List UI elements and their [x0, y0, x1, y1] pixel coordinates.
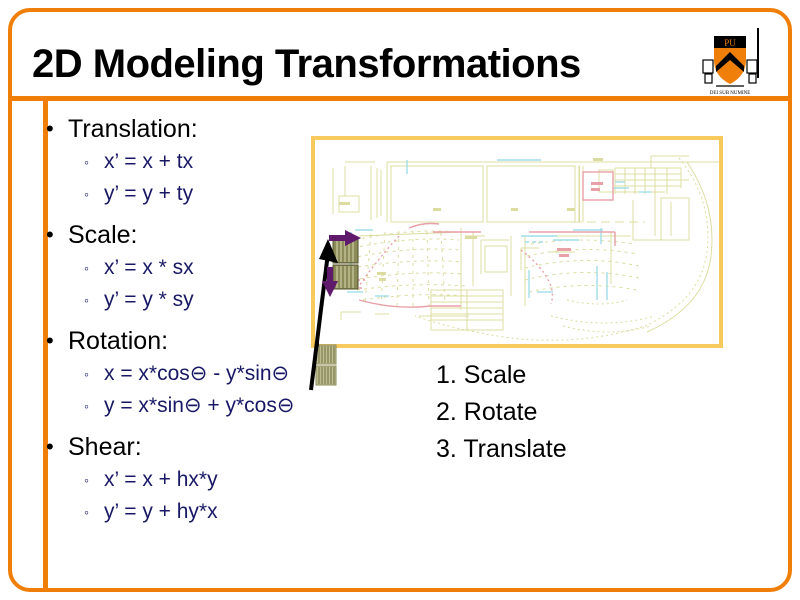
hollow-circle-icon: ◦: [84, 390, 104, 422]
hollow-circle-icon: ◦: [84, 284, 104, 316]
bullet-label: Rotation:: [68, 324, 168, 358]
subbullet-shear-x: ◦ x’ = x + hx*y: [84, 464, 346, 496]
bullet-group-translation: • Translation: ◦ x’ = x + tx ◦ y’ = y + …: [46, 112, 346, 210]
step-item-3: 3. Translate: [436, 431, 567, 468]
subbullet-text: x = x*cos⊖ - y*sin⊖: [104, 358, 289, 390]
bullet-dot-icon: •: [46, 218, 68, 252]
subbullet-translation-x: ◦ x’ = x + tx: [84, 146, 346, 178]
bullet-list: • Translation: ◦ x’ = x + tx ◦ y’ = y + …: [46, 112, 346, 536]
bullet-translation: • Translation:: [46, 112, 346, 146]
hollow-circle-icon: ◦: [84, 358, 104, 390]
bullet-rotation: • Rotation:: [46, 324, 346, 358]
hollow-circle-icon: ◦: [84, 464, 104, 496]
hollow-circle-icon: ◦: [84, 178, 104, 210]
subbullet-text: x’ = x + hx*y: [104, 464, 218, 496]
subbullet-text: x’ = x * sx: [104, 252, 194, 284]
subbullet-scale-x: ◦ x’ = x * sx: [84, 252, 346, 284]
bullet-group-scale: • Scale: ◦ x’ = x * sx ◦ y’ = y * sy: [46, 218, 346, 316]
bullet-shear: • Shear:: [46, 430, 346, 464]
bullet-label: Translation:: [68, 112, 198, 146]
subbullet-text: y = x*sin⊖ + y*cos⊖: [104, 390, 294, 422]
hollow-circle-icon: ◦: [84, 496, 104, 528]
bullet-group-rotation: • Rotation: ◦ x = x*cos⊖ - y*sin⊖ ◦ y = …: [46, 324, 346, 422]
hollow-circle-icon: ◦: [84, 146, 104, 178]
step-item-1: 1. Scale: [436, 357, 567, 394]
transformation-order-list: 1. Scale 2. Rotate 3. Translate: [436, 357, 567, 468]
bullet-dot-icon: •: [46, 112, 68, 146]
hollow-circle-icon: ◦: [84, 252, 104, 284]
step-item-2: 2. Rotate: [436, 394, 567, 431]
bullet-label: Shear:: [68, 430, 142, 464]
subbullet-text: y’ = y * sy: [104, 284, 194, 316]
title-divider: [12, 96, 788, 101]
subbullet-text: y’ = y + ty: [104, 178, 193, 210]
bullet-dot-icon: •: [46, 430, 68, 464]
bullet-label: Scale:: [68, 218, 137, 252]
page-title: 2D Modeling Transformations: [32, 36, 652, 92]
bullet-dot-icon: •: [46, 324, 68, 358]
subbullet-rotation-y: ◦ y = x*sin⊖ + y*cos⊖: [84, 390, 346, 422]
svg-text:PU: PU: [724, 38, 736, 48]
princeton-shield-icon: PU DEI SUB NUMINE: [700, 22, 772, 96]
subbullet-scale-y: ◦ y’ = y * sy: [84, 284, 346, 316]
bullet-scale: • Scale:: [46, 218, 346, 252]
subbullet-shear-y: ◦ y’ = y + hy*x: [84, 496, 346, 528]
subbullet-text: y’ = y + hy*x: [104, 496, 218, 528]
subbullet-rotation-x: ◦ x = x*cos⊖ - y*sin⊖: [84, 358, 346, 390]
slide: 2D Modeling Transformations PU DEI SUB N…: [0, 0, 800, 600]
svg-text:DEI SUB NUMINE: DEI SUB NUMINE: [710, 91, 751, 96]
subbullet-translation-y: ◦ y’ = y + ty: [84, 178, 346, 210]
bullet-group-shear: • Shear: ◦ x’ = x + hx*y ◦ y’ = y + hy*x: [46, 430, 346, 528]
subbullet-text: x’ = x + tx: [104, 146, 193, 178]
